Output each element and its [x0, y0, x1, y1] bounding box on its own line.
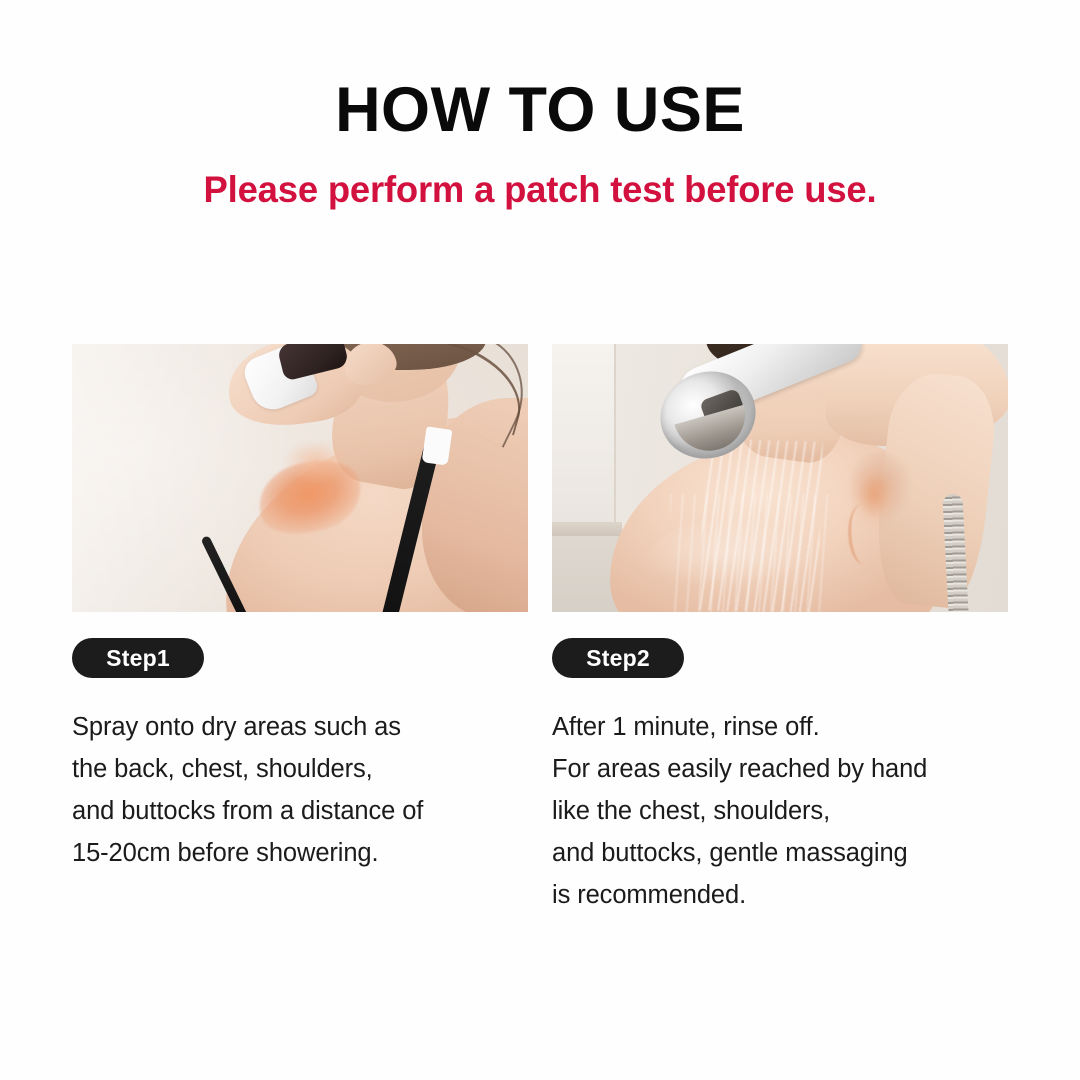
wet-skin-sheen [648, 514, 848, 610]
step-1-line-4: 15-20cm before showering. [72, 832, 528, 874]
how-to-use-infographic: HOW TO USE Please perform a patch test b… [0, 0, 1080, 1080]
step-badge-2: Step2 [552, 638, 684, 678]
step-1-line-3: and buttocks from a distance of [72, 790, 528, 832]
shower-shelf [552, 522, 622, 536]
step-card-1: Step1 Spray onto dry areas such as the b… [72, 344, 528, 916]
step-2-badge-row: Step2 [552, 638, 1008, 678]
step-2-line-1: After 1 minute, rinse off. [552, 706, 1008, 748]
step-2-line-5: is recommended. [552, 874, 1008, 916]
step-1-line-2: the back, chest, shoulders, [72, 748, 528, 790]
step-2-description: After 1 minute, rinse off. For areas eas… [552, 706, 1008, 916]
step-badge-1: Step1 [72, 638, 204, 678]
page-title: HOW TO USE [0, 78, 1080, 144]
step-2-line-3: like the chest, shoulders, [552, 790, 1008, 832]
step-1-description: Spray onto dry areas such as the back, c… [72, 706, 528, 874]
clothing-tag [422, 426, 453, 465]
step-1-badge-row: Step1 [72, 638, 528, 678]
heading-block: HOW TO USE Please perform a patch test b… [0, 78, 1080, 210]
patch-test-warning: Please perform a patch test before use. [8, 170, 1072, 211]
step-card-2: Step2 After 1 minute, rinse off. For are… [552, 344, 1008, 916]
step-2-line-2: For areas easily reached by hand [552, 748, 1008, 790]
step-1-photo [72, 344, 528, 612]
shower-wall-panel [552, 344, 616, 524]
step-2-line-4: and buttocks, gentle massaging [552, 832, 1008, 874]
steps-container: Step1 Spray onto dry areas such as the b… [72, 344, 1008, 916]
step-2-photo [552, 344, 1008, 612]
step-1-line-1: Spray onto dry areas such as [72, 706, 528, 748]
